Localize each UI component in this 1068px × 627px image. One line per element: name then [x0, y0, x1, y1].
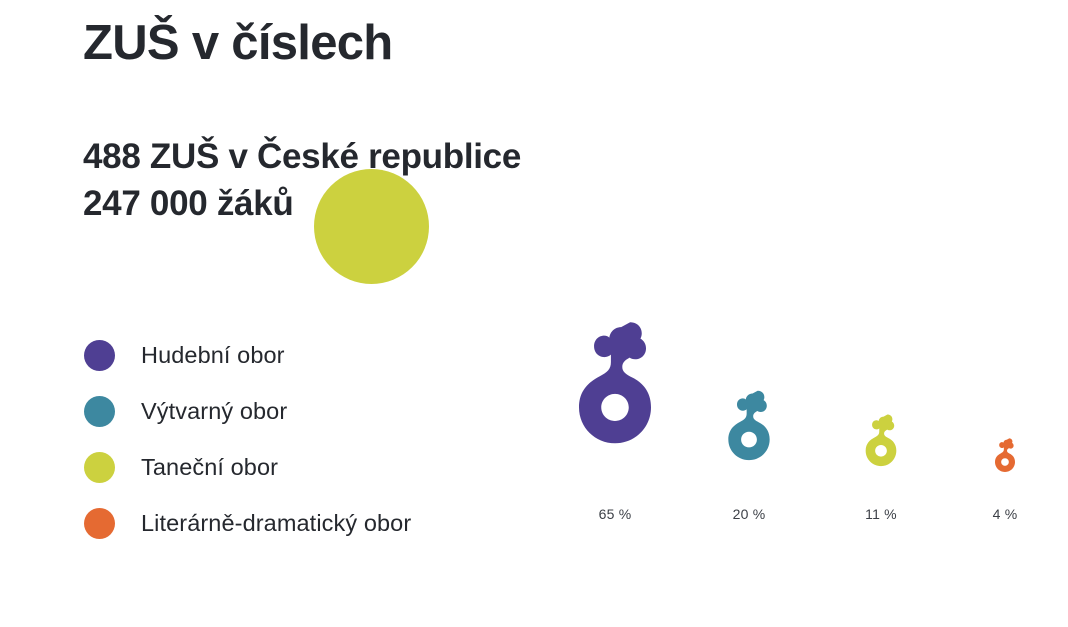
- legend-item-label: Výtvarný obor: [141, 398, 287, 425]
- chart-value-label: 20 %: [733, 506, 766, 522]
- legend-item-label: Literárně-dramatický obor: [141, 510, 411, 537]
- chart-value-label: 4 %: [993, 506, 1018, 522]
- legend-item-label: Hudební obor: [141, 342, 285, 369]
- infographic-canvas: ZUŠ v číslech 488 ZUŠ v České republice …: [0, 0, 1068, 627]
- summary-figures: 488 ZUŠ v České republice 247 000 žáků: [83, 134, 521, 227]
- zus-logo-mark-icon: [726, 390, 773, 483]
- pictogram-chart: 65 % 20 % 11 % 4 %: [556, 300, 1056, 540]
- legend-dot-icon: [84, 508, 115, 539]
- chart-column: 20 %: [690, 300, 808, 540]
- legend-dot-icon: [84, 340, 115, 371]
- legend-item-hudebni: Hudební obor: [84, 327, 411, 383]
- chart-column: 11 %: [822, 300, 940, 540]
- zus-logo-mark-icon: [864, 414, 899, 483]
- summary-line-students: 247 000 žáků: [83, 181, 521, 228]
- chart-value-label: 65 %: [599, 506, 632, 522]
- zus-logo-mark-icon: [994, 438, 1017, 483]
- chart-value-label: 11 %: [865, 506, 897, 522]
- legend-dot-icon: [84, 452, 115, 483]
- chart-column: 4 %: [954, 300, 1056, 540]
- chart-column: 65 %: [556, 300, 674, 540]
- legend-dot-icon: [84, 396, 115, 427]
- legend-item-literarne-dramaticky: Literárně-dramatický obor: [84, 495, 411, 551]
- legend-item-tanecni: Taneční obor: [84, 439, 411, 495]
- page-title: ZUŠ v číslech: [83, 17, 393, 70]
- summary-line-schools: 488 ZUŠ v České republice: [83, 134, 521, 181]
- legend: Hudební obor Výtvarný obor Taneční obor …: [84, 327, 411, 551]
- legend-item-label: Taneční obor: [141, 454, 278, 481]
- legend-item-vytvarny: Výtvarný obor: [84, 383, 411, 439]
- zus-logo-mark-icon: [574, 321, 656, 483]
